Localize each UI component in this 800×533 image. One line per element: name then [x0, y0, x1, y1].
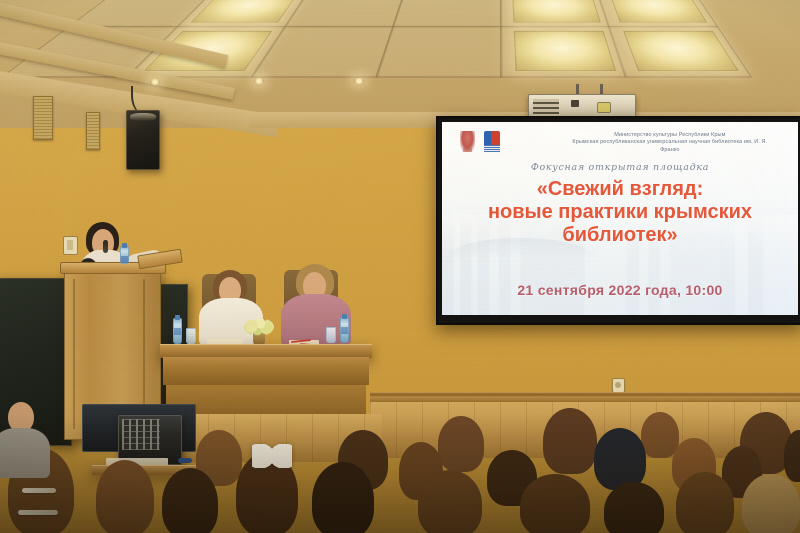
slide-title-line-3: библиотек» — [448, 224, 792, 247]
water-bottle — [340, 317, 349, 343]
white-hair-bow — [252, 444, 292, 468]
slide-title-line-2: новые практики крымских — [448, 201, 792, 224]
handheld-microphone — [103, 240, 108, 253]
projector-lens — [597, 102, 611, 113]
audience-head — [418, 470, 482, 533]
slide-date: 21 сентября 2022 года, 10:00 — [442, 282, 798, 298]
microphone-on-desk — [178, 458, 192, 463]
drinking-glass — [186, 328, 196, 344]
audience-head — [438, 416, 484, 472]
hair-clip — [22, 488, 56, 493]
slide-kicker: Фокусная открытая площадка — [442, 162, 798, 173]
slide-title: «Свежий взгляд: новые практики крымских … — [442, 178, 798, 248]
slide-content: Министерство культуры Республики Крым Кр… — [442, 122, 798, 315]
crimea-emblem-icon — [460, 131, 475, 152]
ceiling-light-panel — [608, 0, 707, 23]
slide-logos — [460, 131, 500, 152]
slide-org-line-2: Крымская республиканская универсальная н… — [563, 139, 777, 154]
audience-head — [543, 408, 597, 474]
audience-head — [96, 460, 154, 533]
ceiling-light-panel — [512, 0, 601, 23]
photo-scene: Министерство культуры Республики Крым Кр… — [0, 0, 800, 533]
wall-speaker — [126, 110, 160, 170]
audience-head — [312, 462, 374, 533]
air-vent — [33, 96, 53, 140]
library-book-logo-icon — [484, 131, 500, 152]
wall-wainscot-rail — [370, 392, 800, 402]
ceiling-tile-grid — [0, 0, 800, 94]
projection-screen-frame: Министерство культуры Республики Крым Кр… — [436, 116, 800, 325]
hair-clip — [18, 510, 58, 515]
slide-title-line-1: «Свежий взгляд: — [448, 178, 792, 201]
projected-slide: Министерство культуры Республики Крым Кр… — [442, 122, 798, 315]
audience-head — [520, 474, 590, 533]
slide-org-line-1: Министерство культуры Республики Крым — [563, 132, 777, 139]
water-bottle — [120, 246, 129, 264]
projector-knob — [571, 100, 579, 107]
wall-outlet — [612, 378, 625, 393]
flower-bouquet — [244, 318, 274, 336]
presidium-table-front — [163, 357, 369, 385]
ceiling-light-panel — [514, 31, 616, 71]
water-bottle — [173, 318, 182, 344]
sound-engineer-torso — [0, 428, 50, 478]
audience-head-blonde — [742, 474, 800, 533]
audience-head — [676, 472, 734, 533]
audience-head — [641, 412, 679, 458]
drinking-glass — [326, 327, 336, 343]
downlight — [254, 78, 264, 84]
downlight — [150, 79, 160, 85]
slide-organization-header: Министерство культуры Республики Крым Кр… — [563, 132, 777, 154]
audience-head-dark-scarf — [594, 428, 646, 490]
mixer-controls — [122, 419, 160, 450]
audience-head — [604, 482, 664, 533]
downlight — [354, 78, 364, 84]
presidium-table-top — [160, 344, 372, 358]
air-vent — [86, 112, 100, 150]
light-switch — [63, 236, 78, 255]
audience-head — [162, 468, 218, 533]
podium-edge — [73, 279, 75, 429]
